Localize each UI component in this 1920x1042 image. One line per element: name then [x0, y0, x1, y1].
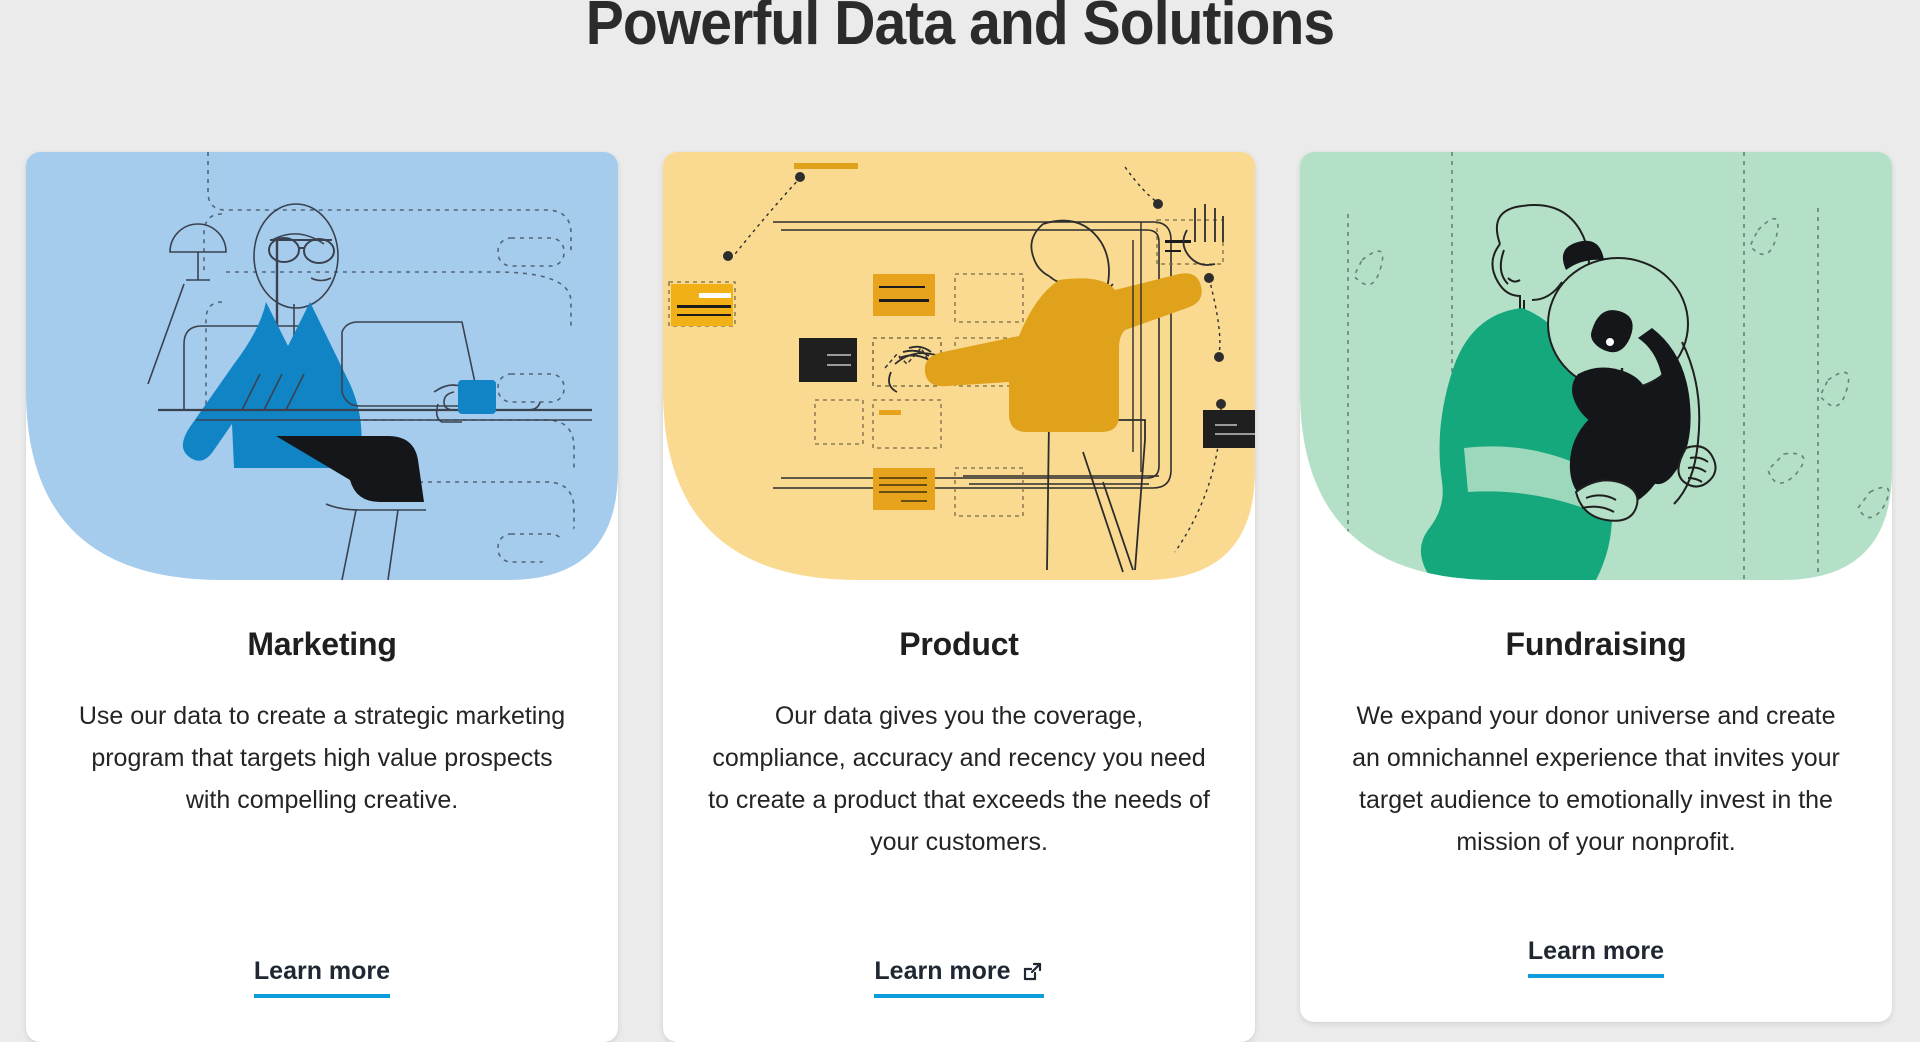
card-description: Use our data to create a strategic marke…	[70, 695, 574, 821]
fundraising-illustration-svg	[1300, 152, 1892, 580]
product-body: Product Our data gives you the coverage,…	[663, 626, 1255, 863]
marketing-link-wrap: Learn more	[26, 957, 618, 998]
solutions-page: Powerful Data and Solutions	[0, 0, 1920, 1042]
solution-card-product[interactable]: Product Our data gives you the coverage,…	[663, 152, 1255, 1042]
card-title: Fundraising	[1344, 626, 1848, 663]
card-title: Marketing	[70, 626, 574, 663]
page-title: Powerful Data and Solutions	[77, 0, 1843, 59]
fundraising-illustration	[1300, 152, 1892, 580]
external-link-icon	[1020, 960, 1044, 984]
learn-more-link-fundraising[interactable]: Learn more	[1528, 937, 1664, 978]
learn-more-label: Learn more	[254, 957, 390, 986]
card-title: Product	[707, 626, 1211, 663]
marketing-illustration	[26, 152, 618, 580]
product-illustration	[663, 152, 1255, 580]
fundraising-body: Fundraising We expand your donor univers…	[1300, 626, 1892, 863]
product-link-wrap: Learn more	[663, 957, 1255, 998]
marketing-illustration-svg	[26, 152, 618, 580]
card-description: Our data gives you the coverage, complia…	[707, 695, 1211, 863]
solution-card-marketing[interactable]: Marketing Use our data to create a strat…	[26, 152, 618, 1042]
solutions-card-grid: Marketing Use our data to create a strat…	[26, 152, 1894, 1042]
solution-card-fundraising[interactable]: Fundraising We expand your donor univers…	[1300, 152, 1892, 1022]
product-illustration-svg	[663, 152, 1255, 580]
learn-more-link-product[interactable]: Learn more	[874, 957, 1043, 998]
fundraising-link-wrap: Learn more	[1300, 937, 1892, 978]
marketing-body: Marketing Use our data to create a strat…	[26, 626, 618, 821]
learn-more-label: Learn more	[874, 957, 1010, 986]
card-description: We expand your donor universe and create…	[1344, 695, 1848, 863]
learn-more-label: Learn more	[1528, 937, 1664, 966]
learn-more-link-marketing[interactable]: Learn more	[254, 957, 390, 998]
